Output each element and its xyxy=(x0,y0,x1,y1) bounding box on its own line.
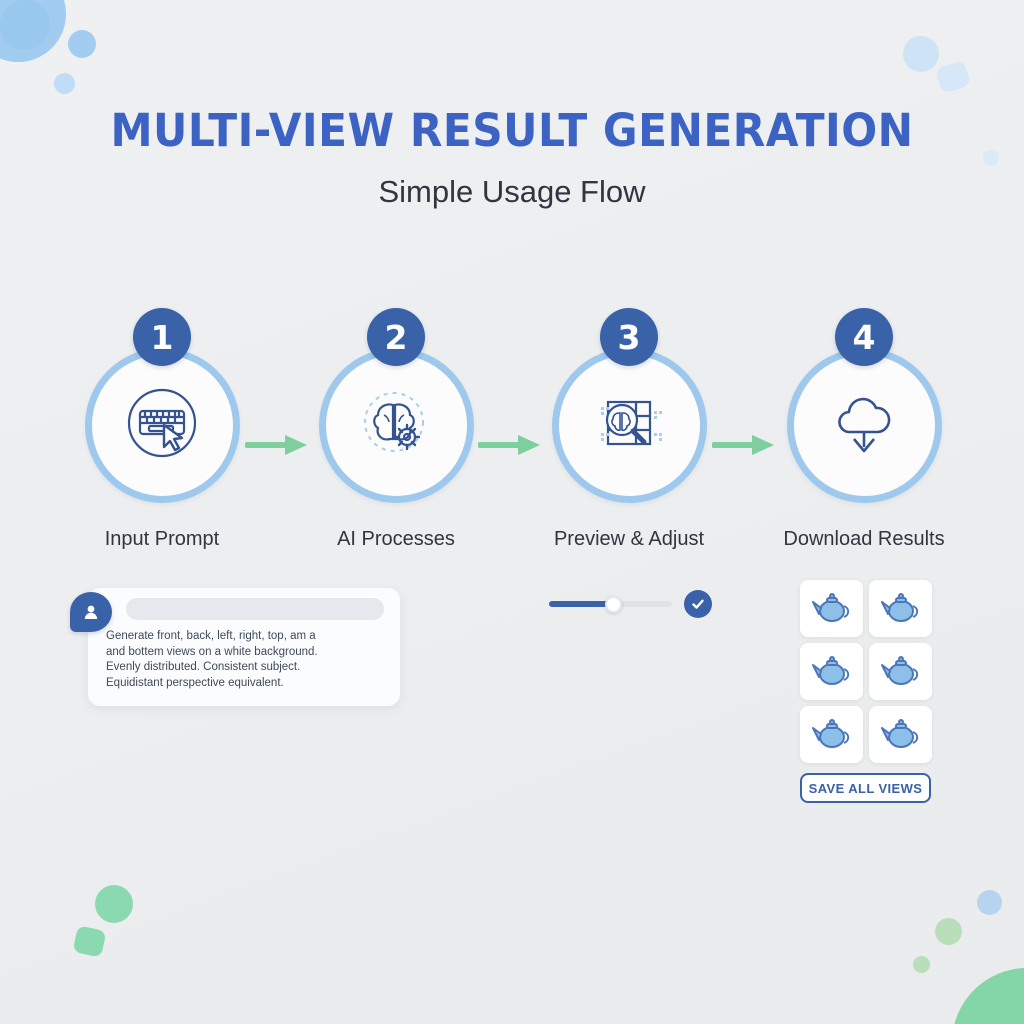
step-4-badge: 4 xyxy=(835,308,893,366)
step-4-label: Download Results xyxy=(764,528,964,551)
steps-row: 1 xyxy=(0,332,1024,572)
prompt-text-line-3: Evenly distributed. Consistent subject. xyxy=(106,660,388,676)
teapot-view-right[interactable] xyxy=(869,643,932,700)
prompt-card[interactable]: Generate front, back, left, right, top, … xyxy=(88,588,400,706)
keyboard-cursor-icon xyxy=(114,375,210,476)
teapot-view-top[interactable] xyxy=(800,706,863,763)
decor-circle-blue-tr xyxy=(903,36,939,72)
decor-square-green-bl xyxy=(73,925,107,957)
prompt-text: Generate front, back, left, right, top, … xyxy=(106,629,388,691)
step-3[interactable]: 3 xyxy=(529,332,729,551)
teapot-view-back[interactable] xyxy=(869,580,932,637)
prompt-text-line-2: and bottem views on a white background. xyxy=(106,645,388,661)
step-2-label: AI Processes xyxy=(296,528,496,551)
results-panel: SAVE ALL VIEWS xyxy=(800,580,932,803)
step-1[interactable]: 1 xyxy=(62,332,262,551)
teapot-view-left[interactable] xyxy=(800,643,863,700)
decor-circle-blue-small-tl xyxy=(54,73,75,94)
step-1-badge: 1 xyxy=(133,308,191,366)
cloud-download-icon xyxy=(816,375,912,476)
step-4-ring: 4 xyxy=(787,348,942,503)
step-3-badge: 3 xyxy=(600,308,658,366)
step-1-ring: 1 xyxy=(85,348,240,503)
infographic-canvas: MULTI-VIEW RESULT GENERATION Simple Usag… xyxy=(0,0,1024,1024)
magnifier-grid-brain-icon xyxy=(581,375,677,476)
adjust-controls xyxy=(549,590,714,618)
decor-square-blue-tr xyxy=(935,60,972,94)
decor-circle-blue-br xyxy=(977,890,1002,915)
step-4[interactable]: 4 Download Results xyxy=(764,332,964,551)
prompt-text-line-4: Equidistant perspective equivalent. xyxy=(106,676,388,692)
save-all-views-button[interactable]: SAVE ALL VIEWS xyxy=(800,773,931,803)
step-3-label: Preview & Adjust xyxy=(529,528,729,551)
prompt-text-line-1: Generate front, back, left, right, top, … xyxy=(106,629,388,645)
teapot-view-bottom[interactable] xyxy=(869,706,932,763)
results-thumbnail-grid xyxy=(800,580,932,763)
decor-circle-blue-large-tl xyxy=(0,0,66,62)
step-2-badge: 2 xyxy=(367,308,425,366)
step-3-ring: 3 xyxy=(552,348,707,503)
brain-gear-icon xyxy=(348,375,444,476)
decor-circle-green-bl xyxy=(95,885,133,923)
adjust-slider-knob[interactable] xyxy=(605,596,622,613)
teapot-view-front[interactable] xyxy=(800,580,863,637)
decor-circle-green-large-br xyxy=(952,968,1024,1024)
step-1-label: Input Prompt xyxy=(62,528,262,551)
speech-bubble-user-icon xyxy=(70,592,112,632)
prompt-input-field[interactable] xyxy=(126,598,384,620)
confirm-check-button[interactable] xyxy=(684,590,712,618)
page-title: MULTI-VIEW RESULT GENERATION xyxy=(31,104,994,157)
decor-circle-green-small-br xyxy=(913,956,930,973)
decor-circle-blue-medium-tl xyxy=(68,30,96,58)
decor-circle-green-br xyxy=(935,918,962,945)
step-2-ring: 2 xyxy=(319,348,474,503)
adjust-slider-fill xyxy=(549,601,613,607)
page-subtitle: Simple Usage Flow xyxy=(0,174,1024,210)
step-2[interactable]: 2 AI Processes xyxy=(296,332,496,551)
